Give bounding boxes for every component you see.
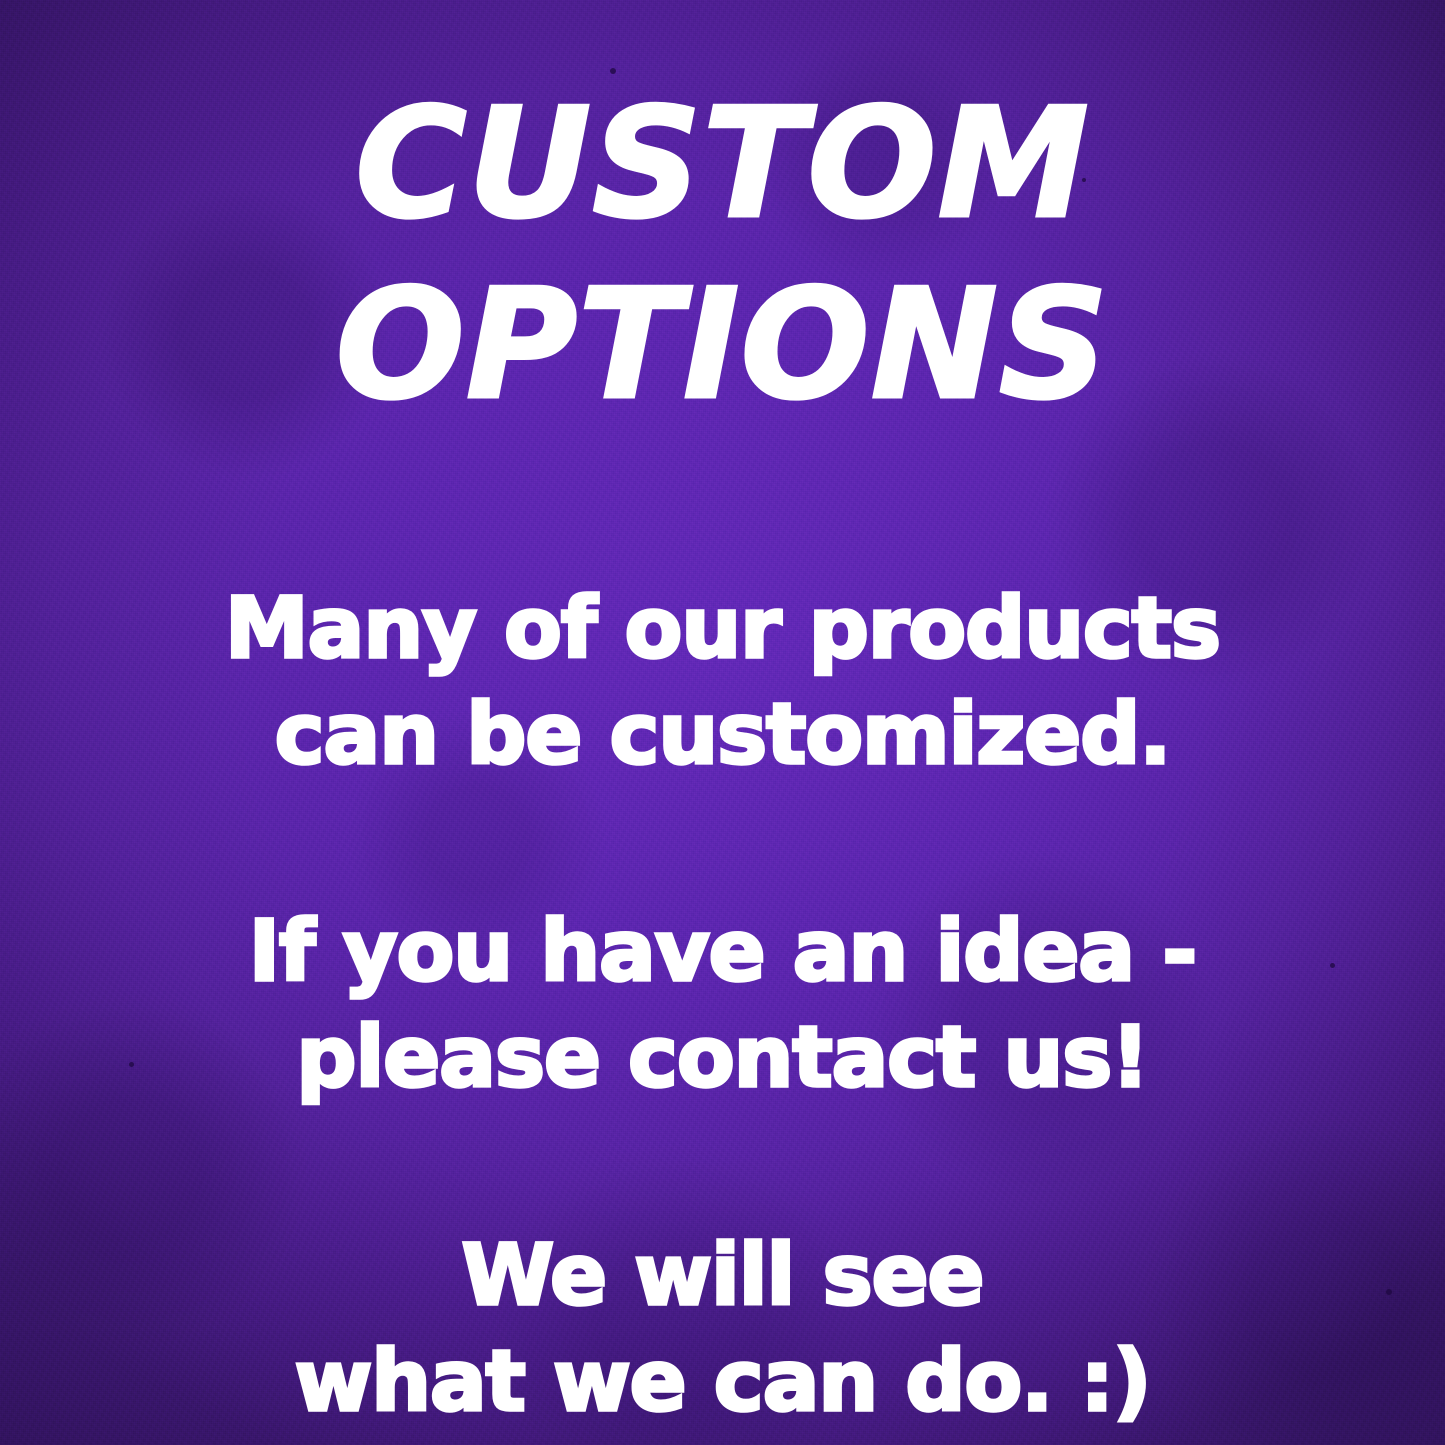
page-title-line-1: CUSTOM — [0, 74, 1445, 255]
paragraph-products-customizable: Many of our products can be customized. — [0, 576, 1445, 788]
paragraph-line: please contact us! — [0, 1005, 1445, 1111]
paragraph-line: We will see — [0, 1223, 1445, 1329]
page-title-line-2: OPTIONS — [0, 255, 1445, 436]
paragraph-line: If you have an idea - — [0, 899, 1445, 1005]
paragraph-line: Many of our products — [0, 576, 1445, 682]
custom-options-poster: CUSTOM OPTIONS Many of our products can … — [0, 0, 1445, 1445]
body-copy: Many of our products can be customized. … — [0, 576, 1445, 1435]
paragraph-closing-promise: We will see what we can do. :) — [0, 1223, 1445, 1435]
poster-content: CUSTOM OPTIONS Many of our products can … — [0, 0, 1445, 1435]
paragraph-contact-invite: If you have an idea - please contact us! — [0, 899, 1445, 1111]
paragraph-line: can be customized. — [0, 682, 1445, 788]
paragraph-spacer — [0, 787, 1445, 899]
paragraph-line: what we can do. :) — [0, 1329, 1445, 1435]
page-title: CUSTOM OPTIONS — [0, 0, 1445, 436]
title-body-spacer — [0, 436, 1445, 576]
paragraph-spacer — [0, 1111, 1445, 1223]
